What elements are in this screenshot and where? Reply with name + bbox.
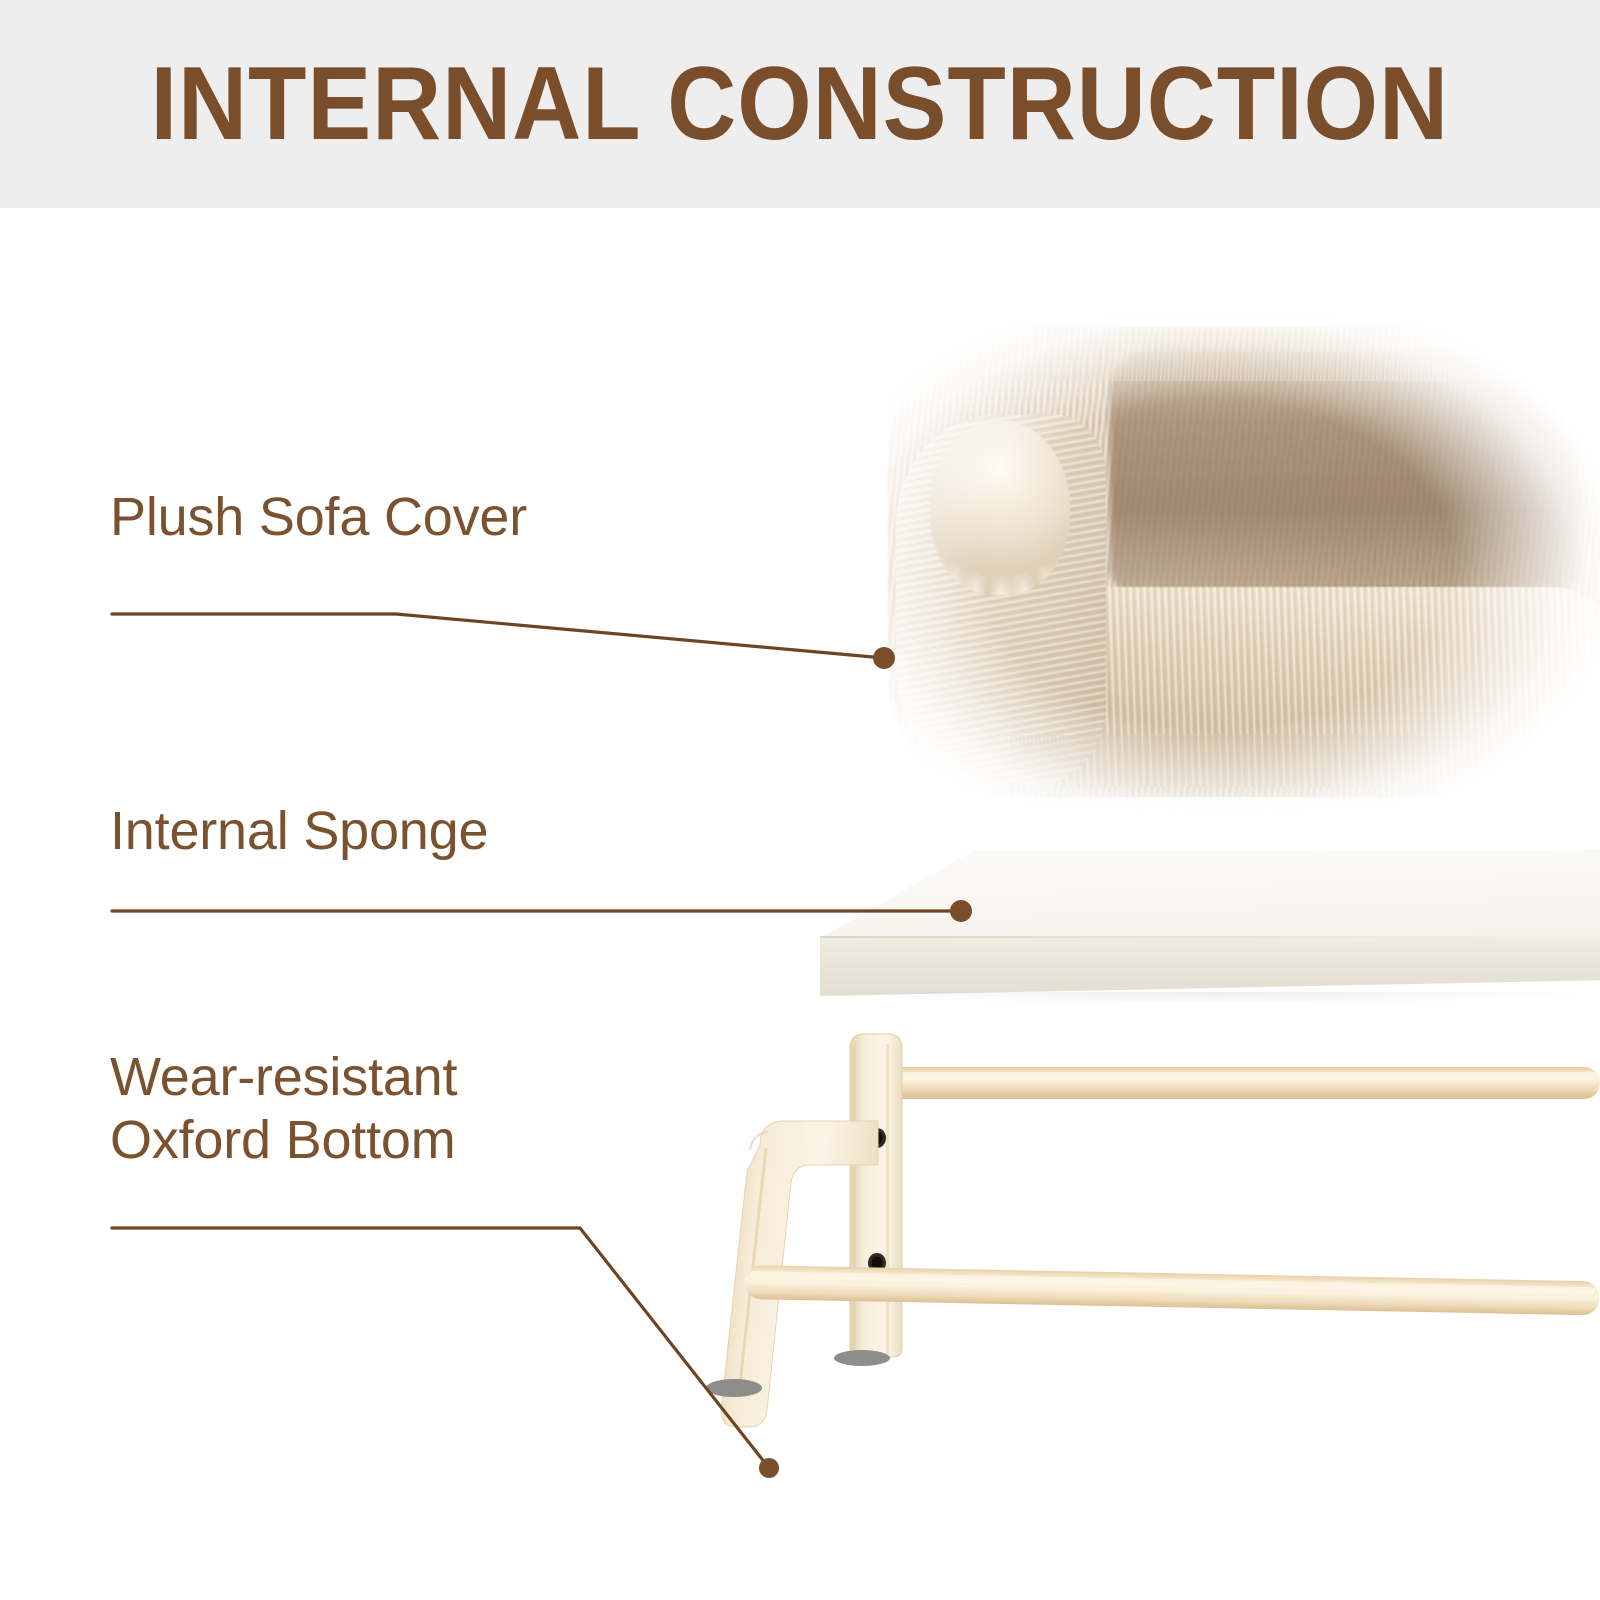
fur-bottom-spikes [1010,735,1600,815]
sponge-ground-shadow [830,992,1600,1008]
callout-oxford-bottom: Wear-resistant Oxford Bottom [110,1046,457,1171]
screw-hole-upper [868,1128,886,1148]
internal-sponge-photo [820,850,1600,1015]
fur-front-strands [1010,587,1600,787]
fur-backrest [1110,351,1580,591]
fur-left-arm [896,415,1106,785]
vertical-post [834,1034,902,1366]
infographic-canvas: INTERNAL CONSTRUCTION [0,0,1600,1600]
callout-internal-sponge: Internal Sponge [110,800,488,863]
lower-dowel-rail [744,1265,1599,1315]
front-leg [706,1121,878,1427]
fur-left-arm-strands [896,415,1106,785]
fur-body [860,305,1600,825]
vertical-post-overlap [850,1265,902,1305]
leader-internal-sponge [112,900,972,922]
sponge-top-edge [820,936,1600,939]
header-band: INTERNAL CONSTRUCTION [0,0,1600,208]
fur-outer-shell [888,327,1600,797]
oxford-bottom-frame-photo [700,1020,1600,1580]
leader-plush-sofa-cover [112,614,895,669]
leader-endpoint-dot-sponge [950,900,972,922]
leader-endpoint-dot-plush [873,647,895,669]
fur-edge-feather [850,295,1600,835]
screw-hole-lower [868,1253,886,1273]
sponge-top-surface [820,850,1600,970]
fur-fringe-texture [888,327,1600,797]
plush-sofa-cover-photo [860,305,1600,825]
page-title: INTERNAL CONSTRUCTION [151,52,1450,156]
fur-backrest-strands [1110,351,1580,591]
callout-label-plush-sofa-cover: Plush Sofa Cover [110,486,527,549]
fur-top-spikes [890,311,1600,381]
callout-label-oxford-bottom: Wear-resistant Oxford Bottom [110,1046,457,1171]
fur-pompom-tuft [930,420,1070,595]
callout-plush-sofa-cover: Plush Sofa Cover [110,486,527,549]
fur-front-bolster [1010,587,1600,787]
rear-leg-foot-cap [834,1350,890,1366]
callout-label-internal-sponge: Internal Sponge [110,800,488,863]
sponge-front-face [820,938,1600,998]
front-leg-foot-cap [706,1379,762,1397]
leader-endpoint-dot-oxford [759,1458,779,1478]
leader-oxford-bottom [112,1228,779,1478]
upper-dowel-rail [863,1067,1600,1099]
